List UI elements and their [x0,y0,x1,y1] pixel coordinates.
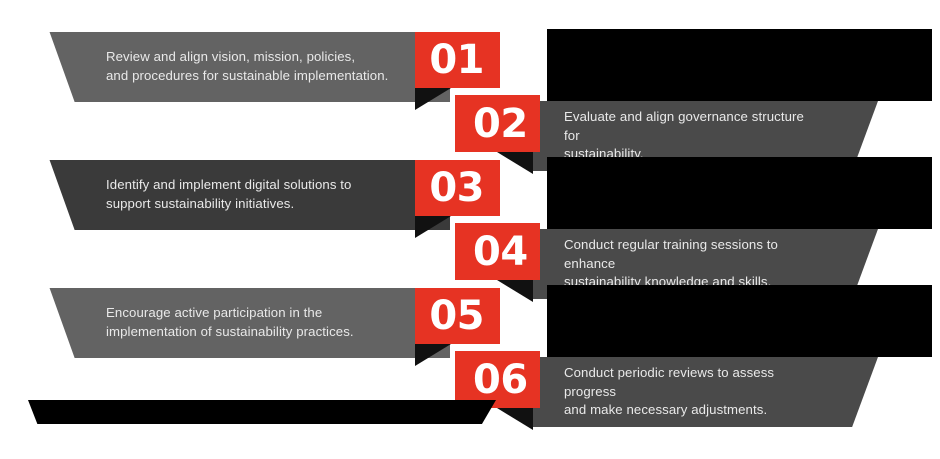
step-wedge-02 [497,152,533,174]
infographic-canvas: Review and align vision, mission, polici… [0,0,940,459]
step-banner-03: Identify and implement digital solutions… [32,160,450,230]
step-number-06[interactable]: 06 [455,351,540,408]
step-banner-06: Conduct periodic reviews to assess progr… [533,357,878,427]
empty-slot-right-lower [547,285,932,357]
empty-slot-left-bottom [28,400,496,424]
step-number-01[interactable]: 01 [415,32,500,88]
step-number-04[interactable]: 04 [455,223,540,280]
step-number-03[interactable]: 03 [415,160,500,216]
empty-slot-right-middle [547,157,932,229]
step-wedge-06 [497,408,533,430]
step-number-05[interactable]: 05 [415,288,500,344]
step-number-02[interactable]: 02 [455,95,540,152]
step-wedge-04 [497,280,533,302]
step-banner-05: Encourage active participation in the im… [32,288,450,358]
step-banner-01: Review and align vision, mission, polici… [32,32,450,102]
empty-slot-right-top [547,29,932,101]
